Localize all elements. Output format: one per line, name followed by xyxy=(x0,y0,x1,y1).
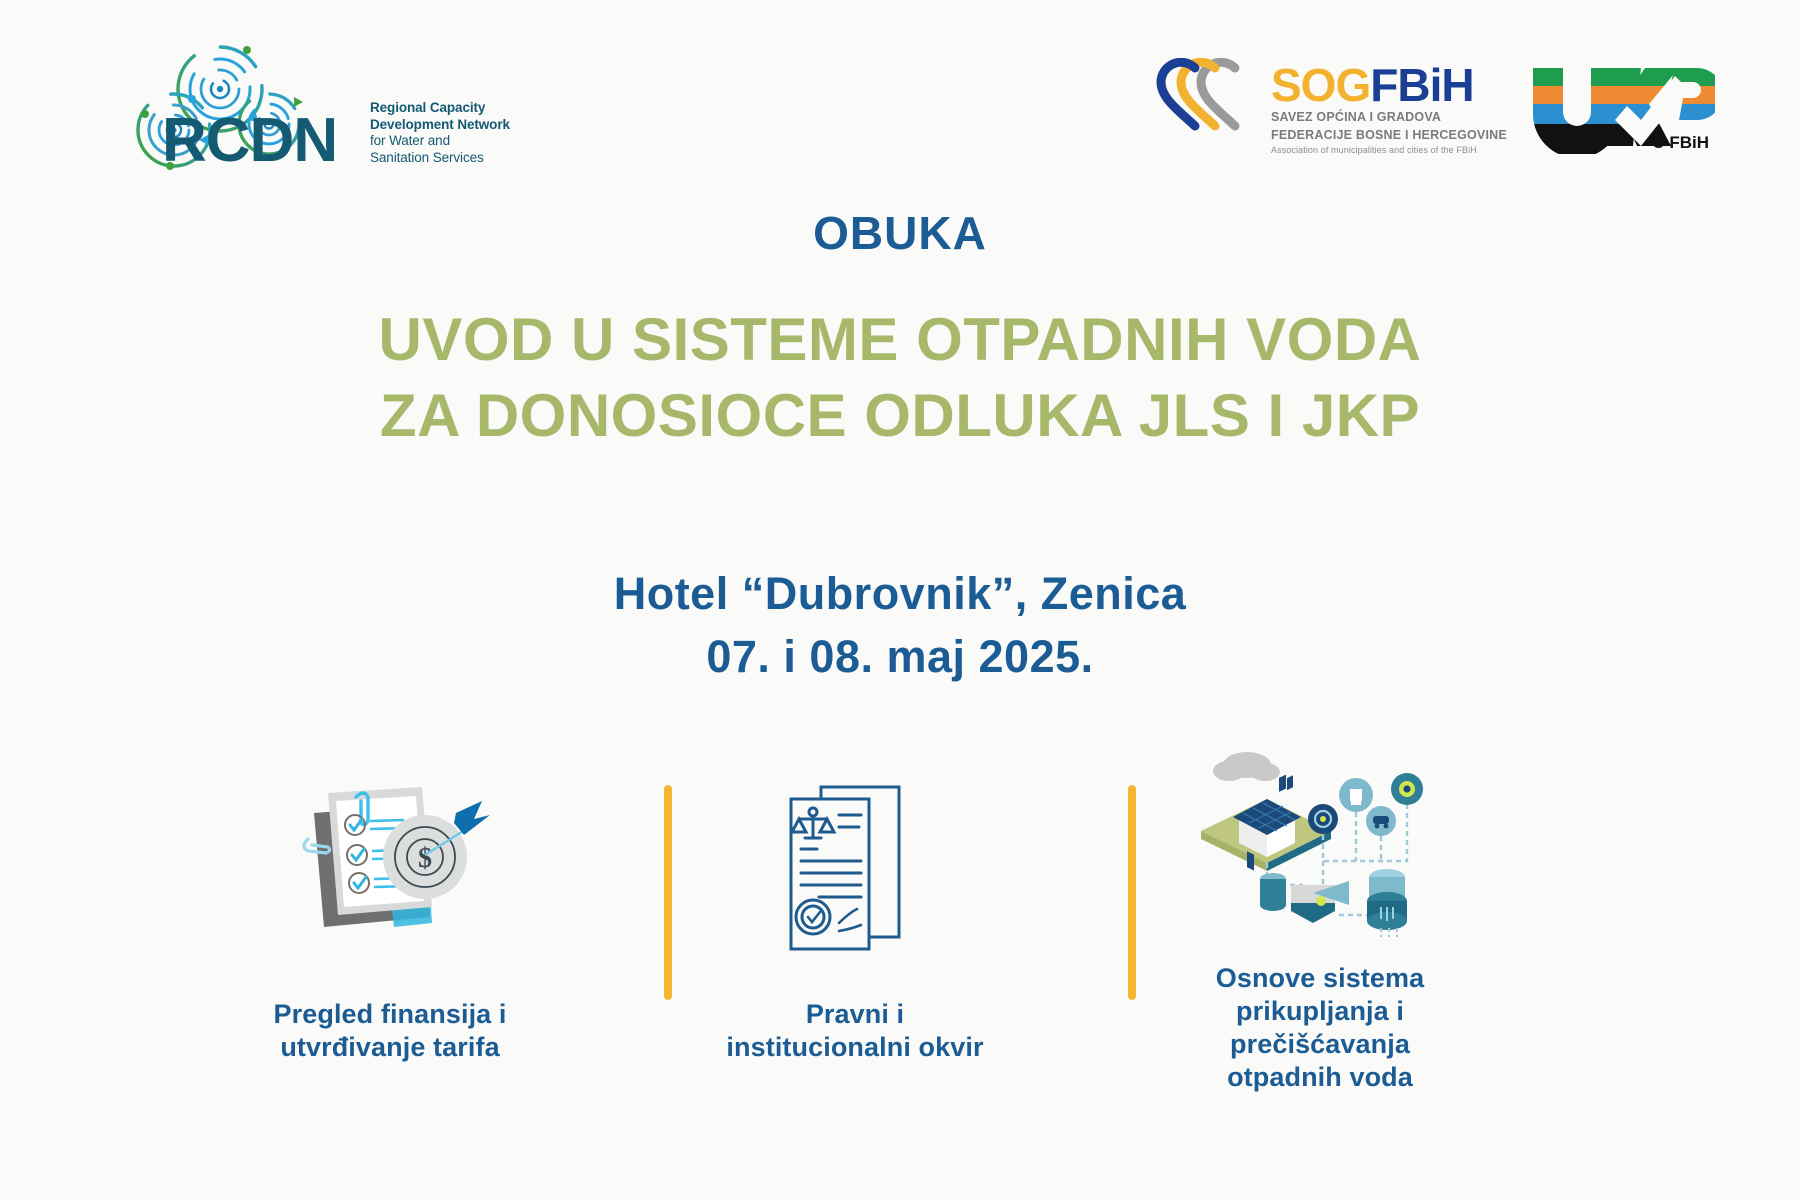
rcdn-wordmark: RCDN xyxy=(162,105,337,176)
legal-document-scales-icon xyxy=(755,775,955,965)
divider-2 xyxy=(1128,785,1136,1000)
checklist-target-money-icon: $ xyxy=(270,775,510,965)
wastewater-illustration xyxy=(1155,740,1485,940)
rcdn-mark-wrap: RCDN xyxy=(112,42,362,172)
sog-word-part-1: SOG xyxy=(1271,59,1370,111)
topic-card-finance: $ Pregled finansija i utvrđivanje tarifa xyxy=(225,770,555,1064)
rcdn-tagline-line-1: Regional Capacity xyxy=(370,100,510,116)
wastewater-system-isometric-icon xyxy=(1195,743,1445,938)
sog-text-block: SOGFBiH SAVEZ OPĆINA I GRADOVA FEDERACIJ… xyxy=(1271,58,1507,155)
sog-subtitle-line-1: SAVEZ OPĆINA I GRADOVA xyxy=(1271,110,1507,126)
legal-label-line-1: Pravni i xyxy=(690,998,1020,1031)
rcdn-tagline-line-3: for Water and xyxy=(370,133,510,149)
topic-card-finance-label: Pregled finansija i utvrđivanje tarifa xyxy=(225,998,555,1064)
legal-label-line-2: institucionalni okvir xyxy=(690,1031,1020,1064)
sog-subtitle-line-3: Association of municipalities and cities… xyxy=(1271,145,1507,155)
rcdn-tagline-line-2: Development Network xyxy=(370,117,510,133)
svg-text:$: $ xyxy=(418,843,432,874)
finance-label-line-1: Pregled finansija i xyxy=(225,998,555,1031)
rcdn-logo: RCDN Regional Capacity Development Netwo… xyxy=(112,42,510,172)
eyebrow-obuka: OBUKA xyxy=(0,210,1800,256)
divider-1 xyxy=(664,785,672,1000)
finance-illustration: $ xyxy=(225,770,555,970)
topics-row: $ Pregled finansija i utvrđivanje tarifa xyxy=(0,770,1800,1100)
logo-bar: RCDN Regional Capacity Development Netwo… xyxy=(0,0,1800,200)
topic-card-wastewater: Osnove sistema prikupljanja i prečišćava… xyxy=(1155,740,1485,1094)
wastewater-label-line-2: prikupljanja i xyxy=(1155,995,1485,1028)
training-announcement-poster: RCDN Regional Capacity Development Netwo… xyxy=(0,0,1800,1200)
venue-dates: 07. i 08. maj 2025. xyxy=(0,625,1800,688)
rcdn-tagline: Regional Capacity Development Network fo… xyxy=(370,100,510,172)
sogfbih-logo: SOGFBiH SAVEZ OPĆINA I GRADOVA FEDERACIJ… xyxy=(1145,58,1507,155)
ukp-logo: U FBiH xyxy=(1525,62,1715,159)
heading-block: OBUKA UVOD U SISTEME OTPADNIH VODA ZA DO… xyxy=(0,210,1800,453)
rcdn-tagline-line-4: Sanitation Services xyxy=(370,150,510,166)
ukp-subtitle: U FBiH xyxy=(1652,133,1709,153)
topic-card-wastewater-label: Osnove sistema prikupljanja i prečišćava… xyxy=(1155,962,1485,1094)
sog-word-part-2: FBiH xyxy=(1370,59,1473,111)
wastewater-label-line-1: Osnove sistema xyxy=(1155,962,1485,995)
title-line-2: ZA DONOSIOCE ODLUKA JLS I JKP xyxy=(0,378,1800,454)
topic-card-legal-label: Pravni i institucionalni okvir xyxy=(690,998,1020,1064)
sog-subtitle-line-2: FEDERACIJE BOSNE I HERCEGOVINE xyxy=(1271,128,1507,144)
wastewater-label-line-4: otpadnih voda xyxy=(1155,1061,1485,1094)
finance-label-line-2: utvrđivanje tarifa xyxy=(225,1031,555,1064)
sog-wordmark: SOGFBiH xyxy=(1271,62,1507,108)
legal-illustration xyxy=(690,770,1020,970)
sog-heart-pins-icon xyxy=(1145,58,1257,140)
venue-location: Hotel “Dubrovnik”, Zenica xyxy=(0,562,1800,625)
topic-card-legal: Pravni i institucionalni okvir xyxy=(690,770,1020,1064)
title-line-1: UVOD U SISTEME OTPADNIH VODA xyxy=(0,302,1800,378)
venue-block: Hotel “Dubrovnik”, Zenica 07. i 08. maj … xyxy=(0,562,1800,688)
wastewater-label-line-3: prečišćavanja xyxy=(1155,1028,1485,1061)
